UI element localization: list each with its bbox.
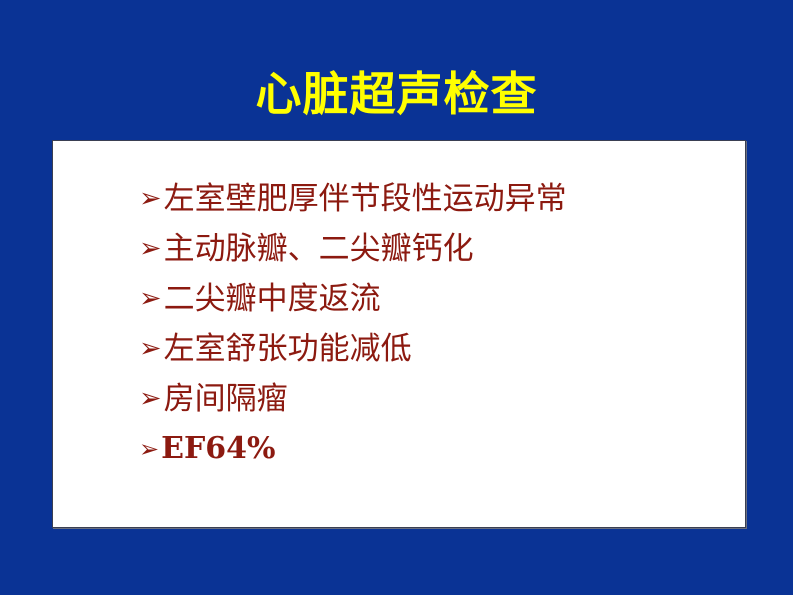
list-item: ➢ 左室舒张功能减低 — [139, 329, 731, 379]
list-item-text: 主动脉瓣、二尖瓣钙化 — [164, 229, 474, 269]
list-item-text: EF64% — [161, 429, 275, 469]
list-item: ➢ 房间隔瘤 — [139, 379, 731, 429]
arrow-bullet-icon: ➢ — [139, 335, 162, 362]
list-item: ➢ EF64% — [139, 429, 731, 479]
presentation-slide: 心脏超声检查 ➢ 左室壁肥厚伴节段性运动异常 ➢ 主动脉瓣、二尖瓣钙化 ➢ 二尖… — [0, 0, 793, 595]
arrow-bullet-icon: ➢ — [139, 285, 162, 312]
list-item-text: 左室舒张功能减低 — [164, 329, 412, 369]
bullet-list: ➢ 左室壁肥厚伴节段性运动异常 ➢ 主动脉瓣、二尖瓣钙化 ➢ 二尖瓣中度返流 ➢… — [139, 179, 731, 479]
arrow-bullet-icon: ➢ — [139, 385, 162, 412]
list-item-text: 房间隔瘤 — [164, 379, 288, 419]
list-item: ➢ 左室壁肥厚伴节段性运动异常 — [139, 179, 731, 229]
arrow-bullet-icon: ➢ — [139, 437, 159, 461]
arrow-bullet-icon: ➢ — [139, 185, 162, 212]
arrow-bullet-icon: ➢ — [139, 235, 162, 262]
list-item-text: 二尖瓣中度返流 — [164, 279, 381, 319]
list-item-text: 左室壁肥厚伴节段性运动异常 — [164, 179, 567, 219]
content-box: ➢ 左室壁肥厚伴节段性运动异常 ➢ 主动脉瓣、二尖瓣钙化 ➢ 二尖瓣中度返流 ➢… — [52, 140, 746, 528]
list-item: ➢ 主动脉瓣、二尖瓣钙化 — [139, 229, 731, 279]
slide-title: 心脏超声检查 — [0, 66, 793, 122]
list-item: ➢ 二尖瓣中度返流 — [139, 279, 731, 329]
